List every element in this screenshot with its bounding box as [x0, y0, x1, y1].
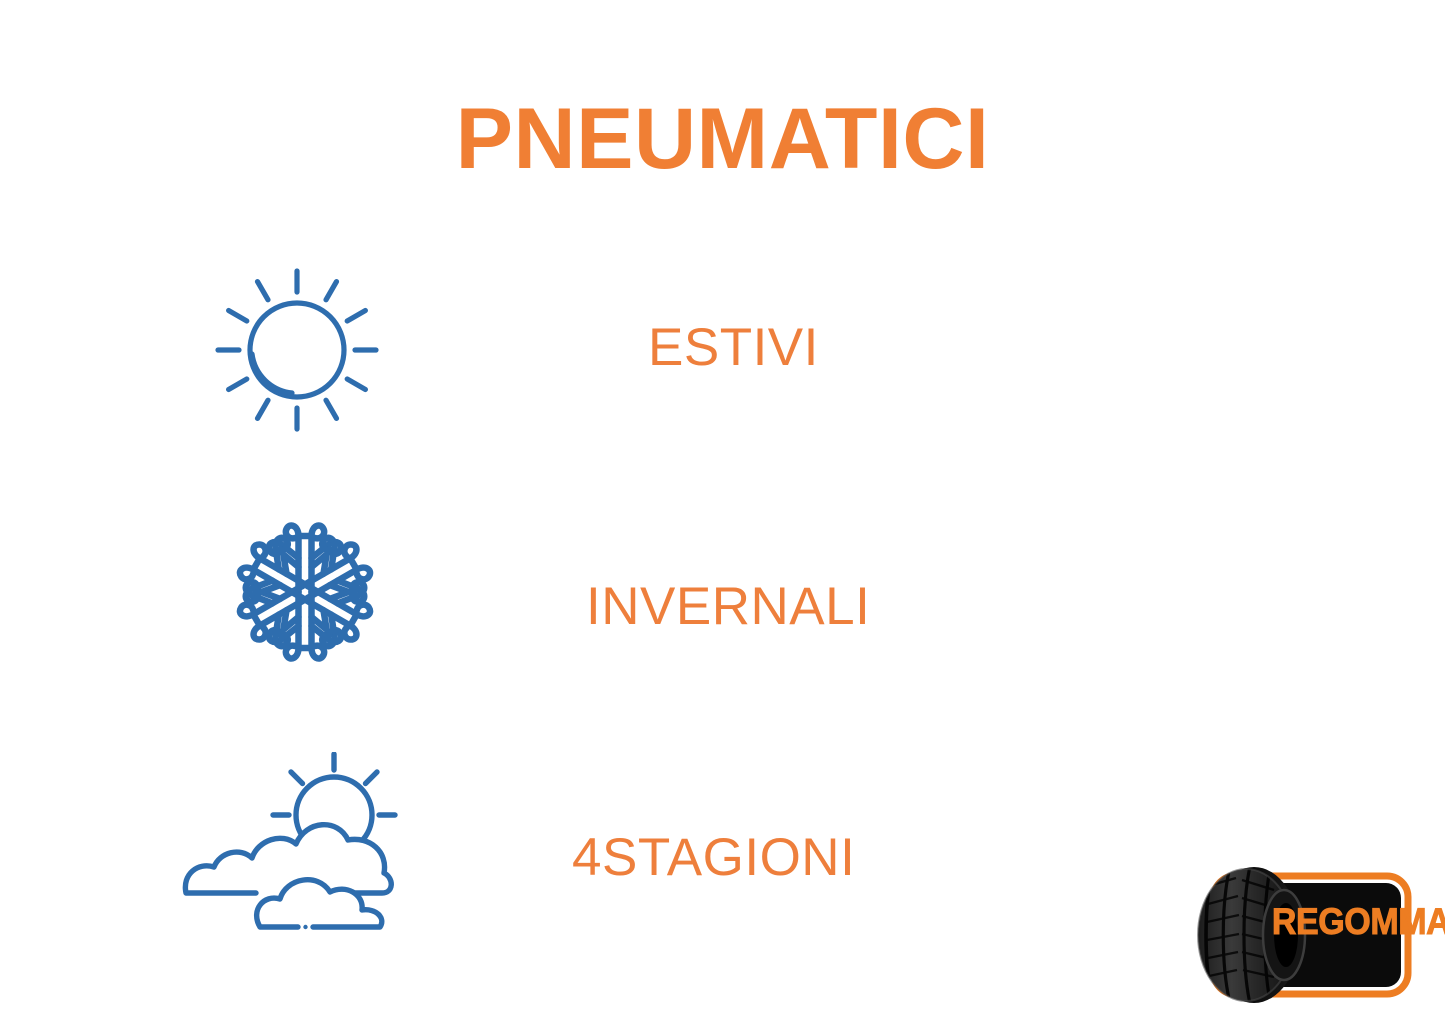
- tire-type-row-estivi: ESTIVI: [0, 250, 1445, 450]
- regomma-logo[interactable]: REGOMMA: [1190, 856, 1428, 1014]
- snowflake-icon: [190, 492, 420, 692]
- sun-behind-clouds-icon: [178, 752, 428, 952]
- tire-type-label-4stagioni: 4STAGIONI: [572, 828, 855, 888]
- poster-canvas: PNEUMATICI: [0, 0, 1445, 1022]
- tire-type-label-invernali: INVERNALI: [586, 577, 870, 637]
- page-title: PNEUMATICI: [0, 96, 1445, 182]
- tire-type-label-estivi: ESTIVI: [648, 318, 819, 378]
- tire-type-row-invernali: INVERNALI: [0, 492, 1445, 692]
- sun-icon: [190, 250, 420, 450]
